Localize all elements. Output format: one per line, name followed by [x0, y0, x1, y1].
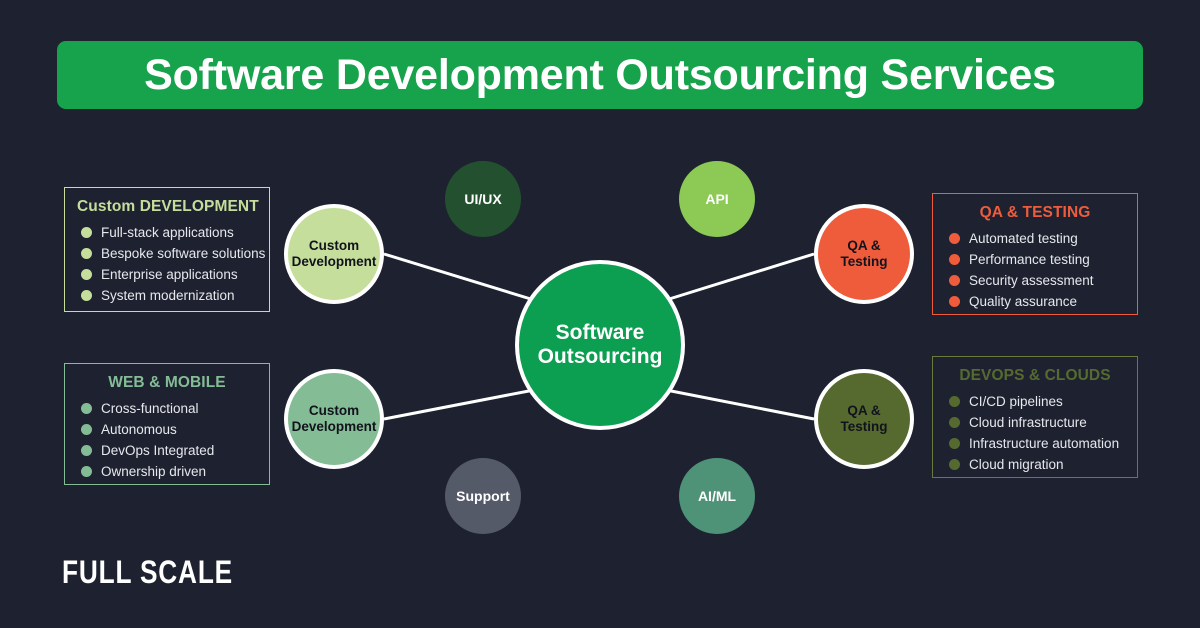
list-item-label: Security assessment	[969, 273, 1094, 288]
bullet-icon	[949, 438, 960, 449]
list-item: Full-stack applications	[77, 225, 257, 240]
list-item: Performance testing	[945, 252, 1125, 267]
list-item-label: Infrastructure automation	[969, 436, 1119, 451]
node-label-line1: QA &	[847, 238, 880, 253]
bullet-icon	[81, 466, 92, 477]
list-item: Infrastructure automation	[945, 436, 1125, 451]
list-item-label: System modernization	[101, 288, 235, 303]
connector-hub-to-qa-top	[666, 254, 814, 300]
bullet-icon	[81, 445, 92, 456]
list-item: Automated testing	[945, 231, 1125, 246]
list-item-label: DevOps Integrated	[101, 443, 214, 458]
hub-node-label: Software Outsourcing	[538, 321, 663, 369]
panel-web-mobile-title: WEB & MOBILE	[77, 374, 257, 392]
node-aiml[interactable]: AI/ML	[679, 458, 755, 534]
hub-label-line1: Software	[556, 321, 645, 344]
node-api[interactable]: API	[679, 161, 755, 237]
panel-custom-development: Custom DEVELOPMENT Full-stack applicatio…	[64, 187, 270, 312]
list-item-label: Full-stack applications	[101, 225, 234, 240]
connector-hub-to-qa-bottom	[666, 390, 814, 419]
title-banner: Software Development Outsourcing Service…	[57, 41, 1143, 109]
node-label-line2: Development	[292, 254, 377, 269]
list-item-label: Enterprise applications	[101, 267, 238, 282]
bullet-icon	[81, 269, 92, 280]
list-item: Security assessment	[945, 273, 1125, 288]
list-item-label: Bespoke software solutions	[101, 246, 265, 261]
node-uiux[interactable]: UI/UX	[445, 161, 521, 237]
bullet-icon	[949, 254, 960, 265]
infographic-canvas: Software Development Outsourcing Service…	[0, 0, 1200, 628]
connector-hub-to-custom-dev-bottom	[384, 390, 534, 419]
list-item: Bespoke software solutions	[77, 246, 257, 261]
node-aiml-label: AI/ML	[698, 488, 736, 504]
list-item: Autonomous	[77, 422, 257, 437]
bullet-icon	[81, 248, 92, 259]
panel-qa-testing-title: QA & TESTING	[945, 204, 1125, 222]
hub-node-software-outsourcing[interactable]: Software Outsourcing	[515, 260, 685, 430]
panel-devops-clouds: DEVOPS & CLOUDS CI/CD pipelines Cloud in…	[932, 356, 1138, 478]
panel-web-mobile: WEB & MOBILE Cross-functional Autonomous…	[64, 363, 270, 485]
node-label-line2: Development	[292, 419, 377, 434]
list-item-label: Cross-functional	[101, 401, 199, 416]
node-uiux-label: UI/UX	[464, 191, 501, 207]
panel-devops-clouds-title: DEVOPS & CLOUDS	[945, 367, 1125, 385]
node-label-line1: Custom	[309, 238, 359, 253]
list-item-label: Quality assurance	[969, 294, 1077, 309]
list-item-label: Cloud migration	[969, 457, 1064, 472]
panel-custom-development-title: Custom DEVELOPMENT	[77, 198, 257, 216]
bullet-icon	[949, 233, 960, 244]
node-custom-development-bottom-label: Custom Development	[292, 403, 377, 434]
bullet-icon	[81, 403, 92, 414]
bullet-icon	[949, 296, 960, 307]
node-label-line1: Custom	[309, 403, 359, 418]
list-item: Cloud infrastructure	[945, 415, 1125, 430]
list-item-label: Ownership driven	[101, 464, 206, 479]
connector-hub-to-custom-dev-top	[384, 254, 534, 300]
list-item: Enterprise applications	[77, 267, 257, 282]
node-qa-testing-top[interactable]: QA & Testing	[814, 204, 914, 304]
node-custom-development-bottom[interactable]: Custom Development	[284, 369, 384, 469]
bullet-icon	[81, 290, 92, 301]
node-qa-testing-top-label: QA & Testing	[841, 238, 888, 269]
bullet-icon	[949, 275, 960, 286]
bullet-icon	[949, 396, 960, 407]
list-item-label: Automated testing	[969, 231, 1078, 246]
node-label-line2: Testing	[841, 419, 888, 434]
list-item-label: CI/CD pipelines	[969, 394, 1063, 409]
list-item-label: Autonomous	[101, 422, 177, 437]
node-support-label: Support	[456, 488, 510, 504]
node-label-line1: QA &	[847, 403, 880, 418]
list-item-label: Performance testing	[969, 252, 1090, 267]
node-custom-development-top-label: Custom Development	[292, 238, 377, 269]
list-item: System modernization	[77, 288, 257, 303]
bullet-icon	[81, 424, 92, 435]
node-qa-testing-bottom-label: QA & Testing	[841, 403, 888, 434]
list-item: DevOps Integrated	[77, 443, 257, 458]
node-qa-testing-bottom[interactable]: QA & Testing	[814, 369, 914, 469]
hub-label-line2: Outsourcing	[538, 345, 663, 368]
panel-qa-testing: QA & TESTING Automated testing Performan…	[932, 193, 1138, 315]
list-item: CI/CD pipelines	[945, 394, 1125, 409]
node-custom-development-top[interactable]: Custom Development	[284, 204, 384, 304]
bullet-icon	[949, 417, 960, 428]
list-item: Ownership driven	[77, 464, 257, 479]
bullet-icon	[81, 227, 92, 238]
list-item: Cross-functional	[77, 401, 257, 416]
page-title: Software Development Outsourcing Service…	[144, 54, 1056, 97]
node-api-label: API	[705, 191, 728, 207]
bullet-icon	[949, 459, 960, 470]
brand-logo: FULL SCALE	[62, 554, 233, 591]
list-item: Cloud migration	[945, 457, 1125, 472]
list-item: Quality assurance	[945, 294, 1125, 309]
node-label-line2: Testing	[841, 254, 888, 269]
node-support[interactable]: Support	[445, 458, 521, 534]
list-item-label: Cloud infrastructure	[969, 415, 1087, 430]
